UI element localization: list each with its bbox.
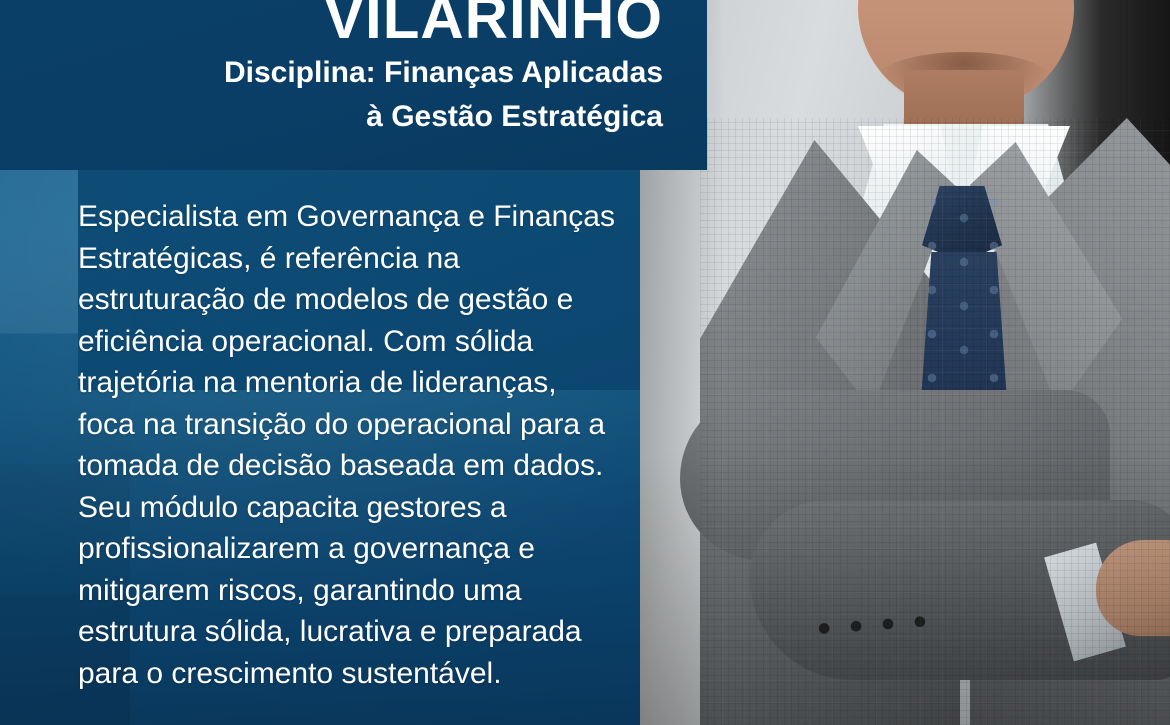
promotional-poster: VILARINHO Disciplina: Finanças Aplicadas…: [0, 0, 1170, 725]
instructor-photo: [640, 0, 1170, 725]
description-block: Especialista em Governança e Finanças Es…: [78, 196, 618, 695]
description-paragraph: Especialista em Governança e Finanças Es…: [78, 196, 618, 695]
header-panel: VILARINHO Disciplina: Finanças Aplicadas…: [0, 0, 707, 170]
subtitle-line-2: à Gestão Estratégica: [224, 97, 663, 137]
subtitle-line-1: Disciplina: Finanças Aplicadas: [224, 53, 663, 93]
photo-shadow-overlay: [640, 0, 1170, 725]
page-title: VILARINHO: [224, 0, 663, 49]
header-text-block: VILARINHO Disciplina: Finanças Aplicadas…: [224, 0, 663, 136]
